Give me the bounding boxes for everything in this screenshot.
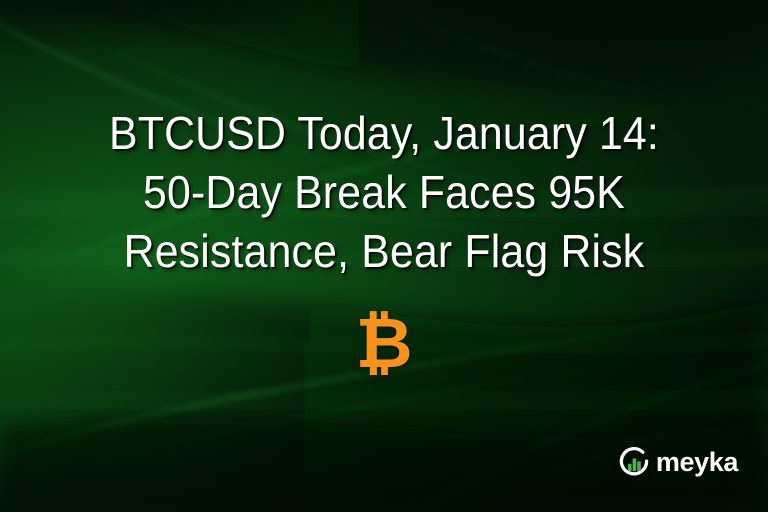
headline-line-3: Resistance, Bear Flag Risk xyxy=(53,222,715,281)
meyka-ring-bars-icon xyxy=(616,444,652,480)
banner-card: BTCUSD Today, January 14: 50-Day Break F… xyxy=(0,0,768,512)
meyka-wordmark: meyka xyxy=(656,447,738,477)
headline-line-2: 50-Day Break Faces 95K xyxy=(53,163,715,222)
headline-line-1: BTCUSD Today, January 14: xyxy=(53,104,715,163)
headline-title: BTCUSD Today, January 14: 50-Day Break F… xyxy=(0,104,768,281)
meyka-logo[interactable]: meyka xyxy=(616,444,738,480)
bitcoin-symbol: ₿ xyxy=(0,308,768,378)
